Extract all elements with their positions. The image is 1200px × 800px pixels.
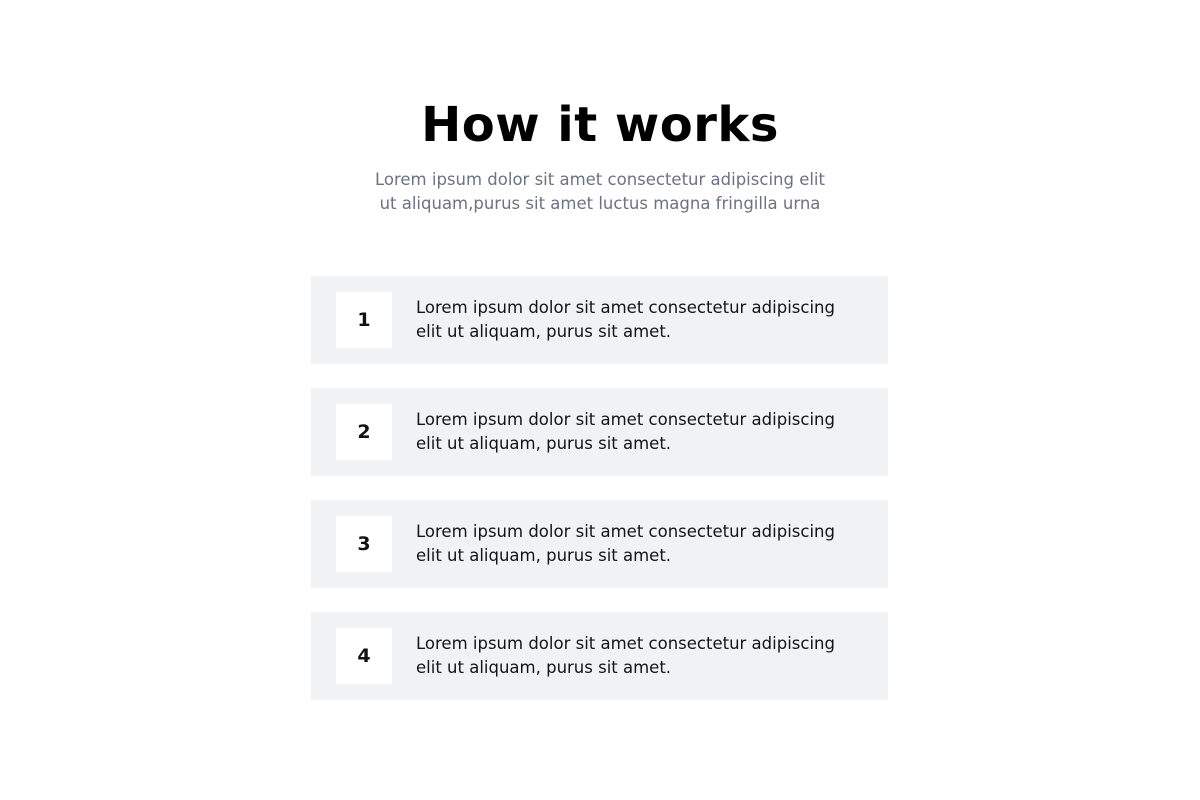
page-subtitle: Lorem ipsum dolor sit amet consectetur a… <box>365 168 835 216</box>
step-number-label: 4 <box>357 647 370 666</box>
step-number-badge: 3 <box>336 516 392 572</box>
steps-list: 1 Lorem ipsum dolor sit amet consectetur… <box>311 276 888 700</box>
step-description: Lorem ipsum dolor sit amet consectetur a… <box>416 632 856 680</box>
step-number-label: 3 <box>357 535 370 554</box>
step-description: Lorem ipsum dolor sit amet consectetur a… <box>416 520 856 568</box>
page-header: How it works Lorem ipsum dolor sit amet … <box>0 96 1200 216</box>
how-it-works-page: How it works Lorem ipsum dolor sit amet … <box>0 0 1200 800</box>
step-card[interactable]: 1 Lorem ipsum dolor sit amet consectetur… <box>311 276 888 364</box>
step-card[interactable]: 4 Lorem ipsum dolor sit amet consectetur… <box>311 612 888 700</box>
step-card[interactable]: 2 Lorem ipsum dolor sit amet consectetur… <box>311 388 888 476</box>
step-description: Lorem ipsum dolor sit amet consectetur a… <box>416 408 856 456</box>
step-card[interactable]: 3 Lorem ipsum dolor sit amet consectetur… <box>311 500 888 588</box>
step-number-label: 1 <box>357 311 370 330</box>
page-title: How it works <box>0 96 1200 154</box>
step-number-badge: 2 <box>336 404 392 460</box>
step-number-badge: 1 <box>336 292 392 348</box>
step-description: Lorem ipsum dolor sit amet consectetur a… <box>416 296 856 344</box>
step-number-badge: 4 <box>336 628 392 684</box>
step-number-label: 2 <box>357 423 370 442</box>
